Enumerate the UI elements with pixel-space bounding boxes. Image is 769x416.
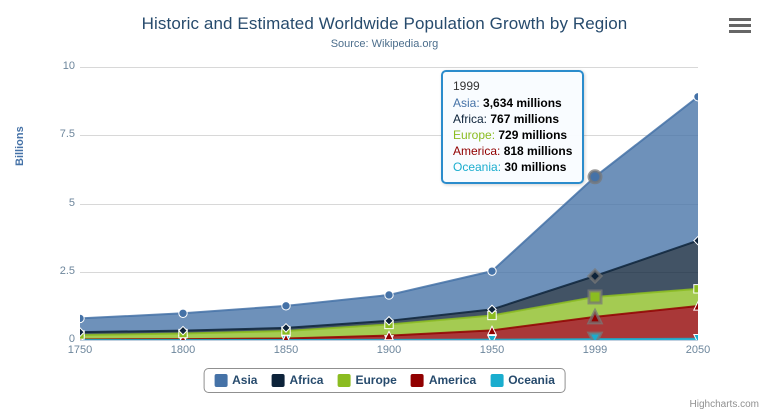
legend-swatch-icon (214, 374, 227, 387)
marker-asia-1999[interactable] (589, 171, 601, 183)
highcharts-chart[interactable]: Historic and Estimated Worldwide Populat… (0, 0, 769, 416)
legend-swatch-icon (337, 374, 350, 387)
tooltip-key: Africa: (453, 112, 490, 126)
x-axis-tick-1750: 1750 (50, 344, 110, 356)
legend-label: Europe (355, 373, 396, 387)
tooltip-header: 1999 (453, 78, 572, 95)
y-axis-tick-7.5: 7.5 (15, 129, 75, 140)
tooltip-key: Europe: (453, 128, 498, 142)
menu-bar-3 (729, 30, 751, 33)
tooltip-value: 3,634 millions (483, 96, 562, 110)
tooltip-key: Asia: (453, 96, 483, 110)
legend-item-europe[interactable]: Europe (337, 373, 396, 387)
tooltip-key: America: (453, 144, 504, 158)
marker-asia-1900[interactable] (385, 291, 393, 299)
tooltip-value: 818 millions (504, 144, 573, 158)
tooltip-value: 729 millions (498, 128, 567, 142)
plot-area[interactable] (80, 67, 698, 340)
marker-asia-1850[interactable] (282, 302, 290, 310)
marker-asia-1950[interactable] (488, 267, 496, 275)
x-axis-tick-2050: 2050 (668, 344, 728, 356)
y-axis-tick-10: 10 (15, 61, 75, 72)
chart-legend[interactable]: AsiaAfricaEuropeAmericaOceania (203, 368, 566, 393)
marker-asia-2050[interactable] (694, 93, 698, 101)
marker-oceania-1999[interactable] (589, 333, 601, 340)
tooltip-value: 30 millions (504, 160, 566, 174)
y-axis-tick-2.5: 2.5 (15, 266, 75, 277)
tooltip-rows: Asia: 3,634 millionsAfrica: 767 millions… (453, 95, 572, 175)
marker-europe-2050[interactable] (694, 285, 698, 293)
marker-europe-1999[interactable] (589, 291, 601, 303)
menu-bar-2 (729, 24, 751, 27)
legend-label: Asia (232, 373, 257, 387)
hamburger-menu-icon[interactable] (729, 18, 751, 36)
x-axis-tick-1800: 1800 (153, 344, 213, 356)
gridline-0 (80, 340, 698, 341)
tooltip-row-asia: Asia: 3,634 millions (453, 95, 572, 111)
x-axis-tick-1999: 1999 (565, 344, 625, 356)
legend-label: Oceania (508, 373, 555, 387)
x-axis-tick-1850: 1850 (256, 344, 316, 356)
legend-item-america[interactable]: America (411, 373, 476, 387)
tooltip-row-america: America: 818 millions (453, 143, 572, 159)
y-axis-tick-5: 5 (15, 198, 75, 209)
tooltip-row-europe: Europe: 729 millions (453, 127, 572, 143)
tooltip-value: 767 millions (490, 112, 559, 126)
tooltip: 1999 Asia: 3,634 millionsAfrica: 767 mil… (441, 70, 584, 184)
legend-item-oceania[interactable]: Oceania (490, 373, 555, 387)
marker-asia-1800[interactable] (179, 309, 187, 317)
tooltip-row-oceania: Oceania: 30 millions (453, 159, 572, 175)
chart-title: Historic and Estimated Worldwide Populat… (0, 14, 769, 34)
legend-label: Africa (289, 373, 323, 387)
legend-swatch-icon (490, 374, 503, 387)
tooltip-key: Oceania: (453, 160, 504, 174)
legend-item-asia[interactable]: Asia (214, 373, 257, 387)
x-axis-tick-1950: 1950 (462, 344, 522, 356)
x-axis-tick-1900: 1900 (359, 344, 419, 356)
chart-subtitle: Source: Wikipedia.org (0, 38, 769, 50)
marker-asia-1750[interactable] (80, 314, 84, 322)
legend-swatch-icon (411, 374, 424, 387)
legend-label: America (429, 373, 476, 387)
tooltip-row-africa: Africa: 767 millions (453, 111, 572, 127)
menu-bar-1 (729, 18, 751, 21)
legend-swatch-icon (271, 374, 284, 387)
credits-label[interactable]: Highcharts.com (690, 399, 759, 410)
legend-item-africa[interactable]: Africa (271, 373, 323, 387)
series-layer (80, 67, 698, 340)
